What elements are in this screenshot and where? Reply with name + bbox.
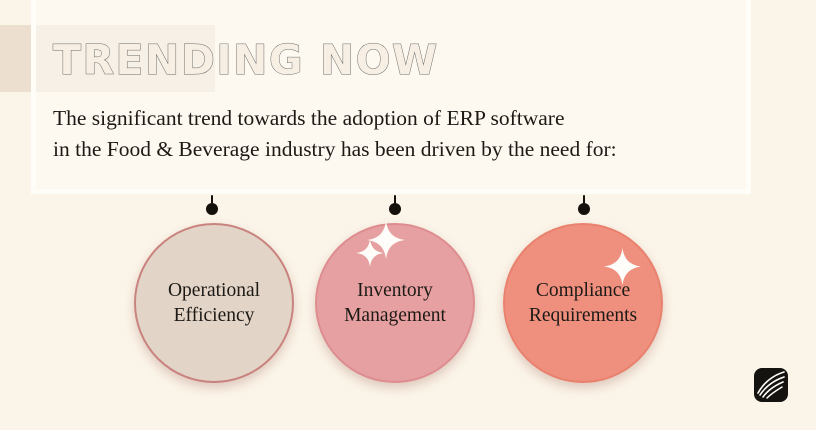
pin-ball-icon: [389, 203, 401, 215]
pin-ball-icon: [578, 203, 590, 215]
concept-label-line-1: Operational: [168, 280, 260, 301]
pin-marker-operational-efficiency: [205, 195, 219, 217]
pin-marker-compliance-requirements: [577, 195, 591, 217]
swoosh-logo[interactable]: [754, 368, 788, 402]
concept-circle-operational-efficiency[interactable]: Operational Efficiency: [134, 223, 294, 383]
concept-label-line-1: Compliance: [536, 280, 630, 301]
concept-circle-compliance-requirements[interactable]: Compliance Requirements: [503, 223, 663, 383]
concept-circle-label: Compliance Requirements: [523, 278, 643, 328]
body-line-1: The significant trend towards the adopti…: [53, 103, 617, 134]
concept-label-line-2: Management: [344, 305, 446, 326]
concept-label-line-2: Efficiency: [174, 305, 255, 326]
swoosh-logo-icon: [754, 368, 788, 402]
concept-circle-label: Operational Efficiency: [162, 278, 266, 328]
page-title: TRENDING NOW: [53, 40, 439, 81]
concept-label-line-1: Inventory: [357, 280, 433, 301]
concept-circle-inventory-management[interactable]: Inventory Management: [315, 223, 475, 383]
slide-canvas: TRENDING NOW The significant trend towar…: [0, 0, 816, 430]
concept-circle-label: Inventory Management: [338, 278, 452, 328]
header-body-text: The significant trend towards the adopti…: [53, 103, 617, 165]
pin-ball-icon: [206, 203, 218, 215]
body-line-2: in the Food & Beverage industry has been…: [53, 134, 617, 165]
pin-marker-inventory-management: [388, 195, 402, 217]
concept-label-line-2: Requirements: [529, 305, 637, 326]
